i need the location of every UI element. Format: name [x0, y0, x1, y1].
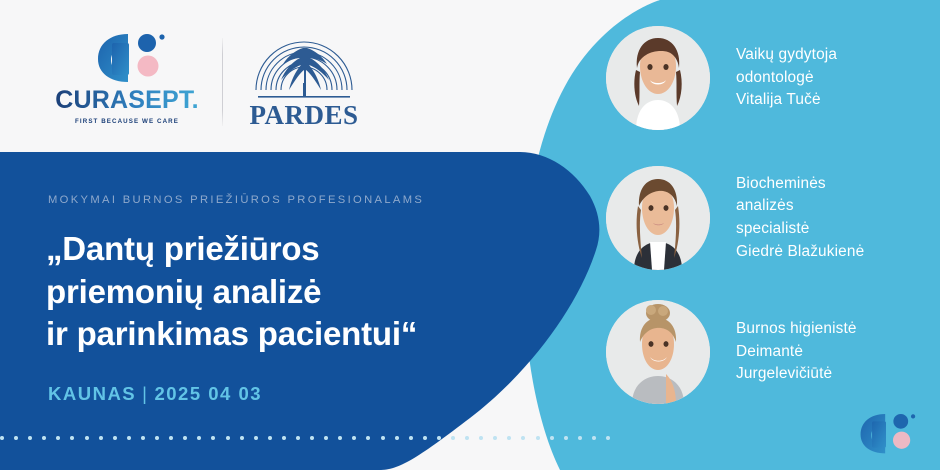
speakers-list: Vaikų gydytoja odontologė Vitalija Tučė — [606, 0, 940, 470]
logo-divider — [222, 38, 223, 126]
rule-dot — [99, 436, 103, 440]
rule-dot — [423, 436, 427, 440]
rule-dot — [550, 436, 554, 440]
dotted-rule — [0, 436, 620, 446]
rule-dot — [395, 436, 399, 440]
speaker-1-line-3: Vitalija Tučė — [736, 89, 837, 112]
rule-dot — [226, 436, 230, 440]
rule-dot — [155, 436, 159, 440]
curasept-wordmark: CURASEPT. — [52, 86, 202, 114]
speaker-3-line-1: Burnos higienistė — [736, 318, 857, 341]
speaker-2-line-2: analizės — [736, 195, 864, 218]
rule-dot — [14, 436, 18, 440]
speaker-2-line-3: specialistė — [736, 218, 864, 241]
rule-dot — [183, 436, 187, 440]
rule-dot — [211, 436, 215, 440]
logo-bar: CURASEPT. FIRST BECAUSE WE CARE — [0, 0, 620, 152]
curasept-c-icon — [90, 30, 168, 82]
pardes-logo: PARDES — [248, 28, 360, 130]
rule-dot — [254, 436, 258, 440]
speaker-card-3: Burnos higienistė Deimantė Jurgelevičiūt… — [606, 300, 940, 404]
rule-dot — [127, 436, 131, 440]
rule-dot — [507, 436, 511, 440]
event-location: KAUNAS — [48, 383, 136, 404]
event-eyebrow: MOKYMAI BURNOS PRIEŽIŪROS PROFESIONALAMS — [48, 194, 424, 206]
rule-dot — [578, 436, 582, 440]
rule-dot — [42, 436, 46, 440]
rule-dot — [310, 436, 314, 440]
rule-dot — [56, 436, 60, 440]
rule-dot — [409, 436, 413, 440]
event-meta: KAUNAS|2025 04 03 — [48, 383, 262, 405]
rule-dot — [465, 436, 469, 440]
rule-dot — [592, 436, 596, 440]
speaker-3-line-3: Jurgelevičiūtė — [736, 363, 857, 386]
rule-dot — [169, 436, 173, 440]
rule-dot — [606, 436, 610, 440]
speaker-portrait-icon — [606, 166, 710, 270]
speaker-1-line-2: odontologė — [736, 67, 837, 90]
event-details: MOKYMAI BURNOS PRIEŽIŪROS PROFESIONALAMS… — [0, 152, 560, 470]
speaker-2-text: Biocheminės analizės specialistė Giedrė … — [736, 173, 864, 264]
speaker-1-line-1: Vaikų gydytoja — [736, 44, 837, 67]
rule-dot — [141, 436, 145, 440]
rule-dot — [296, 436, 300, 440]
rule-dot — [451, 436, 455, 440]
speaker-portrait-icon — [606, 26, 710, 130]
rule-dot — [479, 436, 483, 440]
rule-dot — [197, 436, 201, 440]
event-date: 2025 04 03 — [154, 383, 262, 404]
rule-dot — [536, 436, 540, 440]
rule-dot — [366, 436, 370, 440]
rule-dot — [352, 436, 356, 440]
headline-line-1: „Dantų priežiūros — [46, 228, 546, 271]
rule-dot — [113, 436, 117, 440]
curasept-tagline: FIRST BECAUSE WE CARE — [52, 118, 202, 125]
rule-dot — [324, 436, 328, 440]
rule-dot — [70, 436, 74, 440]
speaker-3-line-2: Deimantė — [736, 341, 857, 364]
rule-dot — [521, 436, 525, 440]
rule-dot — [268, 436, 272, 440]
speaker-3-text: Burnos higienistė Deimantė Jurgelevičiūt… — [736, 318, 857, 386]
speaker-card-1: Vaikų gydytoja odontologė Vitalija Tučė — [606, 26, 940, 130]
headline-line-2: priemonių analizė — [46, 271, 546, 314]
rule-dot — [437, 436, 441, 440]
event-poster: CURASEPT. FIRST BECAUSE WE CARE — [0, 0, 940, 470]
rule-dot — [0, 436, 4, 440]
headline-line-3: ir parinkimas pacientui“ — [46, 313, 546, 356]
curasept-logo: CURASEPT. FIRST BECAUSE WE CARE — [52, 30, 202, 130]
rule-dot — [85, 436, 89, 440]
curasept-c-icon — [854, 410, 918, 454]
svg-text:PARDES: PARDES — [249, 100, 358, 130]
speaker-card-2: Biocheminės analizės specialistė Giedrė … — [606, 166, 940, 270]
rule-dot — [240, 436, 244, 440]
rule-dot — [564, 436, 568, 440]
rule-dot — [28, 436, 32, 440]
event-headline: „Dantų priežiūros priemonių analizė ir p… — [46, 228, 546, 356]
speaker-1-text: Vaikų gydytoja odontologė Vitalija Tučė — [736, 44, 837, 112]
speaker-2-line-1: Biocheminės — [736, 173, 864, 196]
rule-dot — [493, 436, 497, 440]
speaker-portrait-icon — [606, 300, 710, 404]
rule-dot — [338, 436, 342, 440]
svg-text:CURASEPT.: CURASEPT. — [55, 86, 199, 114]
meta-separator: | — [136, 383, 154, 404]
rule-dot — [282, 436, 286, 440]
rule-dot — [381, 436, 385, 440]
speaker-2-line-4: Giedrė Blažukienė — [736, 241, 864, 264]
